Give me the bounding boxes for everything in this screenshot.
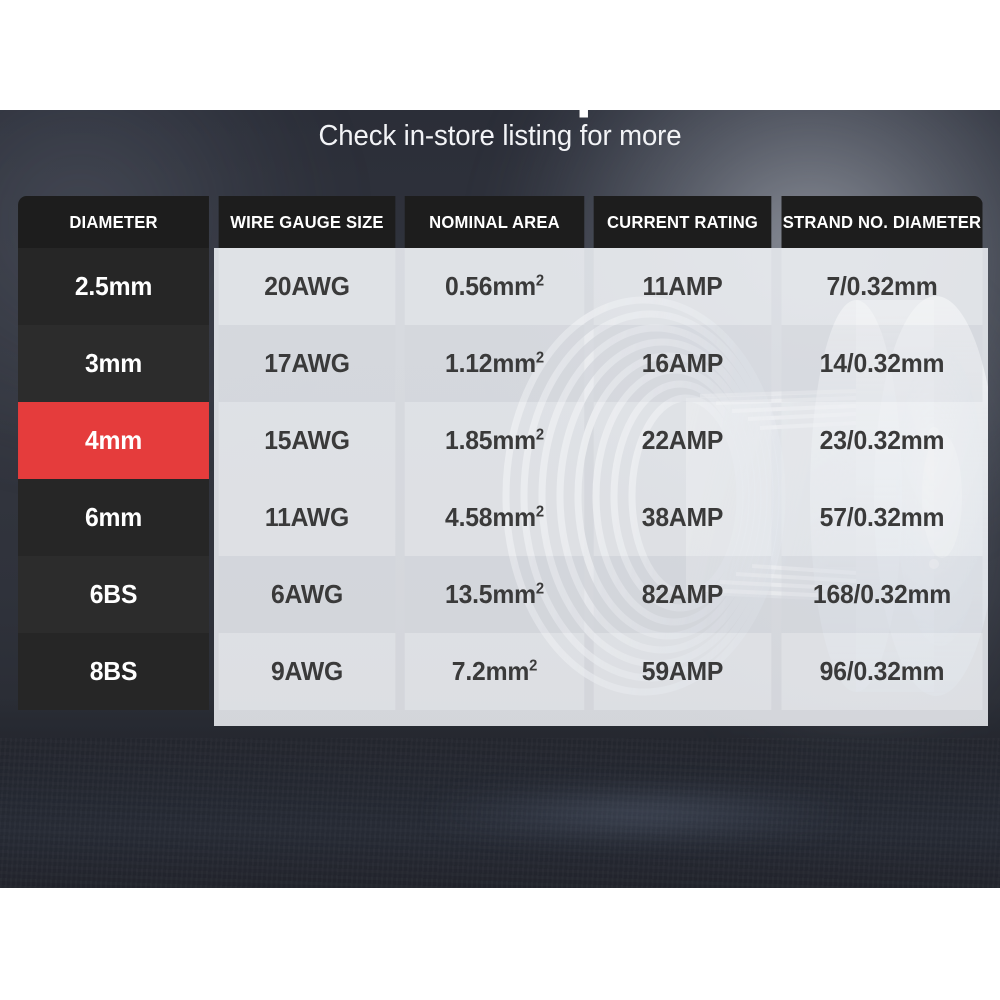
- cell-nominal-area: 7.2mm2: [405, 633, 585, 710]
- cell-diameter: 2.5mm: [18, 248, 209, 325]
- cell-strand-no-diameter: 23/0.32mm: [781, 402, 982, 479]
- cell-strand-no-diameter: 7/0.32mm: [781, 248, 982, 325]
- nominal-area-value: 4.58mm: [445, 502, 536, 532]
- spec-table-container: DIAMETER WIRE GAUGE SIZE NOMINAL AREA CU…: [13, 196, 988, 710]
- cell-nominal-area: 1.12mm2: [405, 325, 585, 402]
- nominal-area-value: 0.56mm: [445, 271, 536, 301]
- table-row: 6BS 6AWG 13.5mm2 82AMP 168/0.32mm: [13, 556, 988, 633]
- column-header-strand-no-diameter: STRAND NO. DIAMETER: [781, 196, 982, 248]
- cell-diameter: 6BS: [18, 556, 209, 633]
- table-body: 2.5mm 20AWG 0.56mm2 11AMP 7/0.32mm 3mm 1…: [13, 248, 988, 710]
- product-spec-banner: Electrical cable specification Check in-…: [0, 0, 1000, 1000]
- nominal-area-value: 1.85mm: [445, 425, 536, 455]
- cell-wire-gauge-size: 6AWG: [219, 556, 396, 633]
- table-row: 2.5mm 20AWG 0.56mm2 11AMP 7/0.32mm: [13, 248, 988, 325]
- table-header-row: DIAMETER WIRE GAUGE SIZE NOMINAL AREA CU…: [13, 196, 988, 248]
- background-floor-sheen: [430, 790, 850, 836]
- nominal-area-value: 13.5mm: [445, 579, 536, 609]
- nominal-area-exponent: 2: [536, 272, 544, 289]
- cell-current-rating: 22AMP: [594, 402, 772, 479]
- cell-wire-gauge-size: 15AWG: [219, 402, 396, 479]
- cell-diameter: 6mm: [18, 479, 209, 556]
- table-row-highlighted: 4mm 15AWG 1.85mm2 22AMP 23/0.32mm: [13, 402, 988, 479]
- nominal-area-exponent: 2: [536, 580, 544, 597]
- cell-wire-gauge-size: 9AWG: [219, 633, 396, 710]
- page-subtitle: Check in-store listing for more: [25, 121, 975, 153]
- cell-nominal-area: 0.56mm2: [405, 248, 585, 325]
- cell-current-rating: 59AMP: [594, 633, 772, 710]
- nominal-area-exponent: 2: [536, 503, 544, 520]
- cell-diameter: 3mm: [18, 325, 209, 402]
- nominal-area-exponent: 2: [529, 657, 537, 674]
- page-title: Electrical cable specification: [35, 48, 965, 115]
- nominal-area-exponent: 2: [536, 426, 544, 443]
- cell-nominal-area: 1.85mm2: [405, 402, 585, 479]
- cell-diameter: 8BS: [18, 633, 209, 710]
- cell-strand-no-diameter: 14/0.32mm: [781, 325, 982, 402]
- cell-diameter: 4mm: [18, 402, 209, 479]
- column-header-current-rating: CURRENT RATING: [594, 196, 772, 248]
- nominal-area-exponent: 2: [536, 349, 544, 366]
- table-row: 3mm 17AWG 1.12mm2 16AMP 14/0.32mm: [13, 325, 988, 402]
- nominal-area-value: 7.2mm: [452, 656, 529, 686]
- cell-strand-no-diameter: 57/0.32mm: [781, 479, 982, 556]
- cell-strand-no-diameter: 96/0.32mm: [781, 633, 982, 710]
- cell-nominal-area: 4.58mm2: [405, 479, 585, 556]
- cell-wire-gauge-size: 17AWG: [219, 325, 396, 402]
- column-header-nominal-area: NOMINAL AREA: [405, 196, 585, 248]
- cell-current-rating: 11AMP: [594, 248, 772, 325]
- cell-current-rating: 38AMP: [594, 479, 772, 556]
- cell-current-rating: 16AMP: [594, 325, 772, 402]
- table-row: 8BS 9AWG 7.2mm2 59AMP 96/0.32mm: [13, 633, 988, 710]
- cell-wire-gauge-size: 20AWG: [219, 248, 396, 325]
- table-row: 6mm 11AWG 4.58mm2 38AMP 57/0.32mm: [13, 479, 988, 556]
- cell-strand-no-diameter: 168/0.32mm: [781, 556, 982, 633]
- nominal-area-value: 1.12mm: [445, 348, 536, 378]
- cell-current-rating: 82AMP: [594, 556, 772, 633]
- column-header-wire-gauge-size: WIRE GAUGE SIZE: [219, 196, 396, 248]
- cell-nominal-area: 13.5mm2: [405, 556, 585, 633]
- spec-table: DIAMETER WIRE GAUGE SIZE NOMINAL AREA CU…: [13, 196, 988, 710]
- heading-block: Electrical cable specification Check in-…: [0, 48, 1000, 153]
- column-header-diameter: DIAMETER: [18, 196, 209, 248]
- cell-wire-gauge-size: 11AWG: [219, 479, 396, 556]
